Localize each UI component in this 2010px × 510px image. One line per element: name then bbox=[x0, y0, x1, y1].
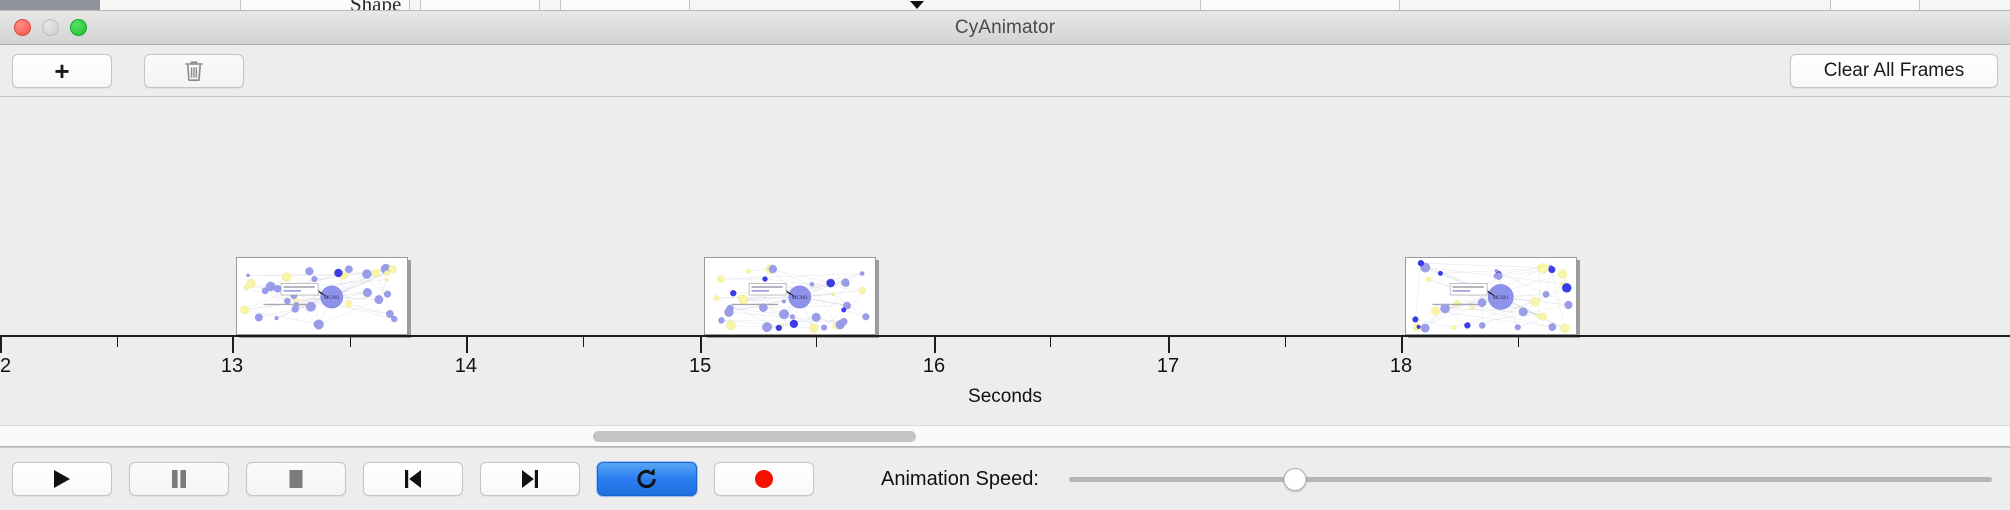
skip-forward-icon bbox=[517, 467, 543, 491]
axis-tick-label: 15 bbox=[689, 355, 711, 378]
frames-area: MCM1MCM1MCM1 bbox=[0, 97, 2010, 335]
axis-tick-label: 14 bbox=[455, 355, 477, 378]
frame-thumbnail-1[interactable]: MCM1 bbox=[236, 257, 408, 335]
record-icon bbox=[752, 467, 776, 491]
slider-thumb[interactable] bbox=[1284, 468, 1307, 491]
stop-icon bbox=[284, 467, 308, 491]
axis-tick bbox=[117, 336, 118, 347]
add-frame-button[interactable]: + bbox=[12, 54, 112, 88]
timeline-panel[interactable]: MCM1MCM1MCM1 Seconds 12131415161718 bbox=[0, 97, 2010, 447]
bg-caret-icon bbox=[910, 1, 924, 9]
axis-tick-label: 12 bbox=[0, 355, 11, 378]
loop-button[interactable] bbox=[597, 462, 697, 496]
play-button[interactable] bbox=[12, 462, 112, 496]
trash-icon bbox=[183, 59, 205, 83]
axis-tick-label: 18 bbox=[1390, 355, 1412, 378]
axis-tick bbox=[0, 336, 2, 353]
axis-tick bbox=[1401, 336, 1403, 353]
title-bar: CyAnimator bbox=[0, 11, 2010, 45]
frame-thumbnail-3[interactable]: MCM1 bbox=[1405, 257, 1577, 335]
animation-speed-slider[interactable] bbox=[1069, 462, 1992, 496]
skip-forward-button[interactable] bbox=[480, 462, 580, 496]
play-icon bbox=[49, 467, 75, 491]
loop-icon bbox=[634, 467, 660, 491]
axis-tick bbox=[1168, 336, 1170, 353]
axis-tick bbox=[816, 336, 817, 347]
timeline-axis bbox=[0, 335, 2010, 337]
axis-tick-label: 17 bbox=[1157, 355, 1179, 378]
axis-tick bbox=[350, 336, 351, 347]
bg-chip bbox=[560, 0, 690, 11]
axis-tick bbox=[700, 336, 702, 353]
skip-back-button[interactable] bbox=[363, 462, 463, 496]
delete-frame-button[interactable] bbox=[144, 54, 244, 88]
bg-chip bbox=[1830, 0, 1920, 11]
axis-tick bbox=[583, 336, 584, 347]
bg-partial-label: Shape bbox=[350, 0, 401, 11]
network-graph: MCM1 bbox=[1406, 258, 1576, 334]
animation-speed-label: Animation Speed: bbox=[881, 468, 1039, 491]
pause-icon bbox=[167, 467, 191, 491]
scrollbar-thumb[interactable] bbox=[593, 431, 916, 442]
bg-dark-chip bbox=[0, 0, 100, 11]
bg-chip bbox=[1200, 0, 1400, 11]
horizontal-scrollbar[interactable] bbox=[0, 425, 2010, 447]
pause-button[interactable] bbox=[129, 462, 229, 496]
axis-tick bbox=[1518, 336, 1519, 347]
network-graph: MCM1 bbox=[705, 258, 875, 334]
bg-chip bbox=[420, 0, 540, 11]
clear-all-frames-button[interactable]: Clear All Frames bbox=[1790, 54, 1998, 88]
axis-tick bbox=[934, 336, 936, 353]
cyanimator-window: CyAnimator + Clear All Frames MCM1MCM1MC… bbox=[0, 11, 2010, 510]
axis-tick-label: 16 bbox=[923, 355, 945, 378]
axis-tick bbox=[1050, 336, 1051, 347]
window-title: CyAnimator bbox=[0, 17, 2010, 39]
record-button[interactable] bbox=[714, 462, 814, 496]
axis-tick bbox=[466, 336, 468, 353]
plus-icon: + bbox=[54, 58, 69, 84]
axis-tick bbox=[1285, 336, 1286, 347]
axis-tick-label: 13 bbox=[221, 355, 243, 378]
frame-toolbar: + Clear All Frames bbox=[0, 45, 2010, 97]
transport-bar: Animation Speed: bbox=[0, 447, 2010, 510]
axis-tick bbox=[232, 336, 234, 353]
frame-thumbnail-2[interactable]: MCM1 bbox=[704, 257, 876, 335]
network-graph: MCM1 bbox=[237, 258, 407, 334]
slider-track bbox=[1069, 477, 1992, 482]
axis-title: Seconds bbox=[0, 386, 2010, 408]
stop-button[interactable] bbox=[246, 462, 346, 496]
background-window-strip: Shape bbox=[0, 0, 2010, 11]
skip-back-icon bbox=[400, 467, 426, 491]
